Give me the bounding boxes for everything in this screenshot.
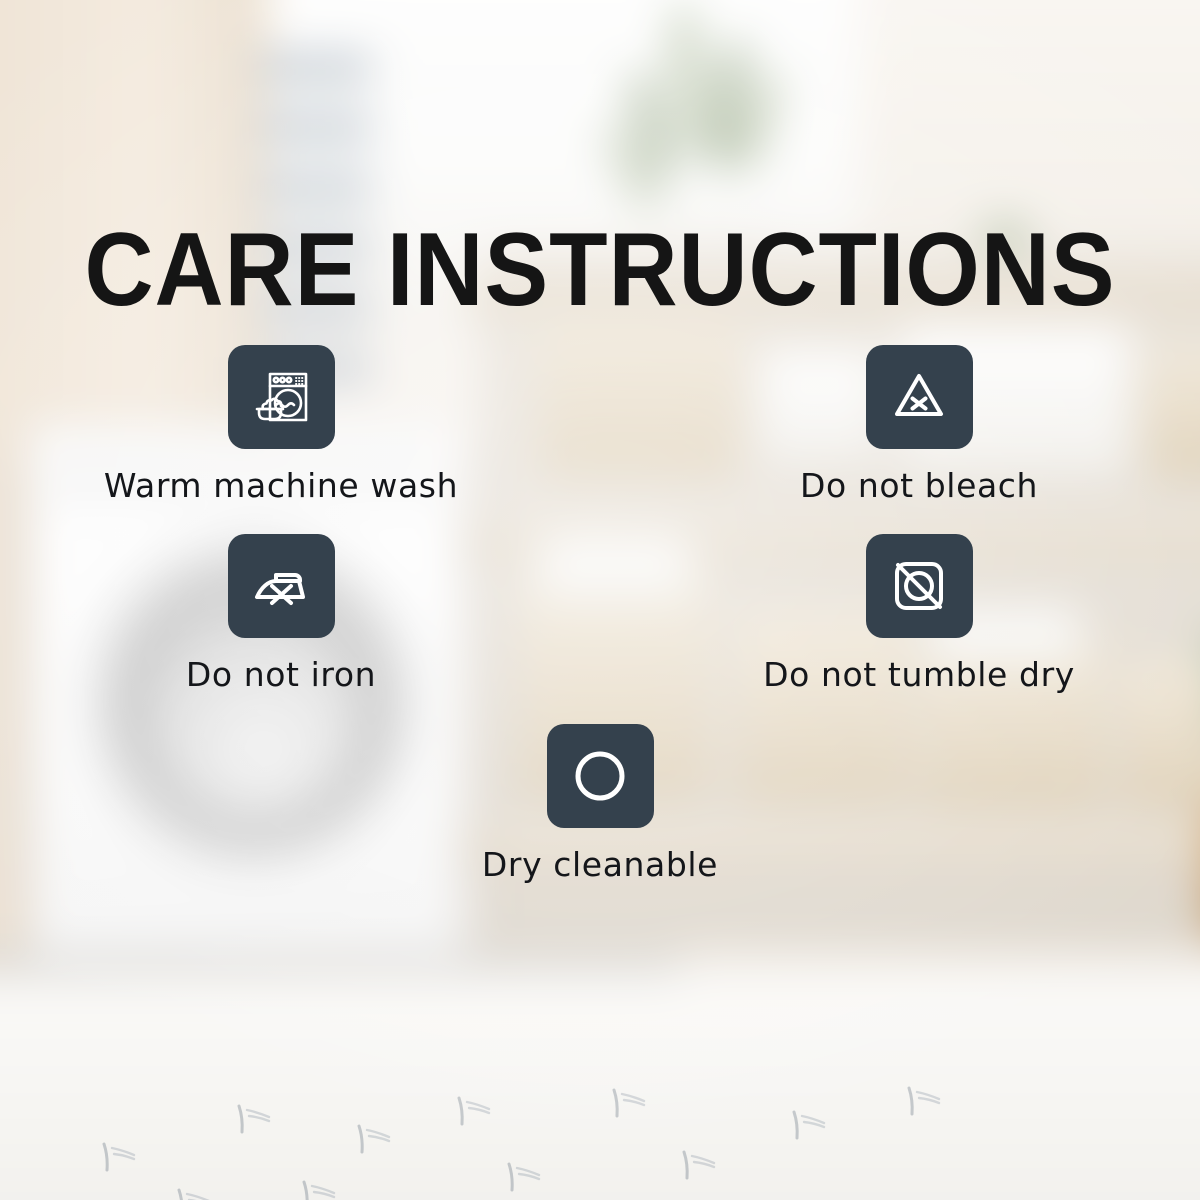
care-symbol-grid: Warm machine wash Do not bleach — [0, 345, 1200, 884]
do-not-iron-icon[interactable] — [228, 534, 335, 638]
care-instructions-poster: CARE INSTRUCTIONS — [0, 0, 1200, 1200]
care-item-label: Do not tumble dry — [763, 656, 1075, 694]
care-item-label: Do not bleach — [800, 467, 1038, 505]
page-title: CARE INSTRUCTIONS — [48, 218, 1152, 322]
do-not-tumble-dry-icon[interactable] — [866, 534, 973, 638]
care-row-1: Warm machine wash Do not bleach — [0, 345, 1200, 505]
care-item-label: Do not iron — [186, 656, 376, 694]
care-item-do-not-bleach[interactable]: Do not bleach — [769, 345, 1069, 505]
care-item-warm-machine-wash[interactable]: Warm machine wash — [131, 345, 431, 505]
care-item-dry-cleanable[interactable]: Dry cleanable — [450, 724, 750, 884]
care-row-3: Dry cleanable — [0, 724, 1200, 884]
dry-clean-circle-icon[interactable] — [547, 724, 654, 828]
care-item-label: Dry cleanable — [482, 846, 718, 884]
do-not-bleach-triangle-icon[interactable] — [866, 345, 973, 449]
care-row-2: Do not iron Do not tumble dry — [0, 534, 1200, 694]
care-item-label: Warm machine wash — [104, 467, 458, 505]
washing-machine-icon[interactable] — [228, 345, 335, 449]
care-item-do-not-iron[interactable]: Do not iron — [131, 534, 431, 694]
care-item-do-not-tumble-dry[interactable]: Do not tumble dry — [769, 534, 1069, 694]
